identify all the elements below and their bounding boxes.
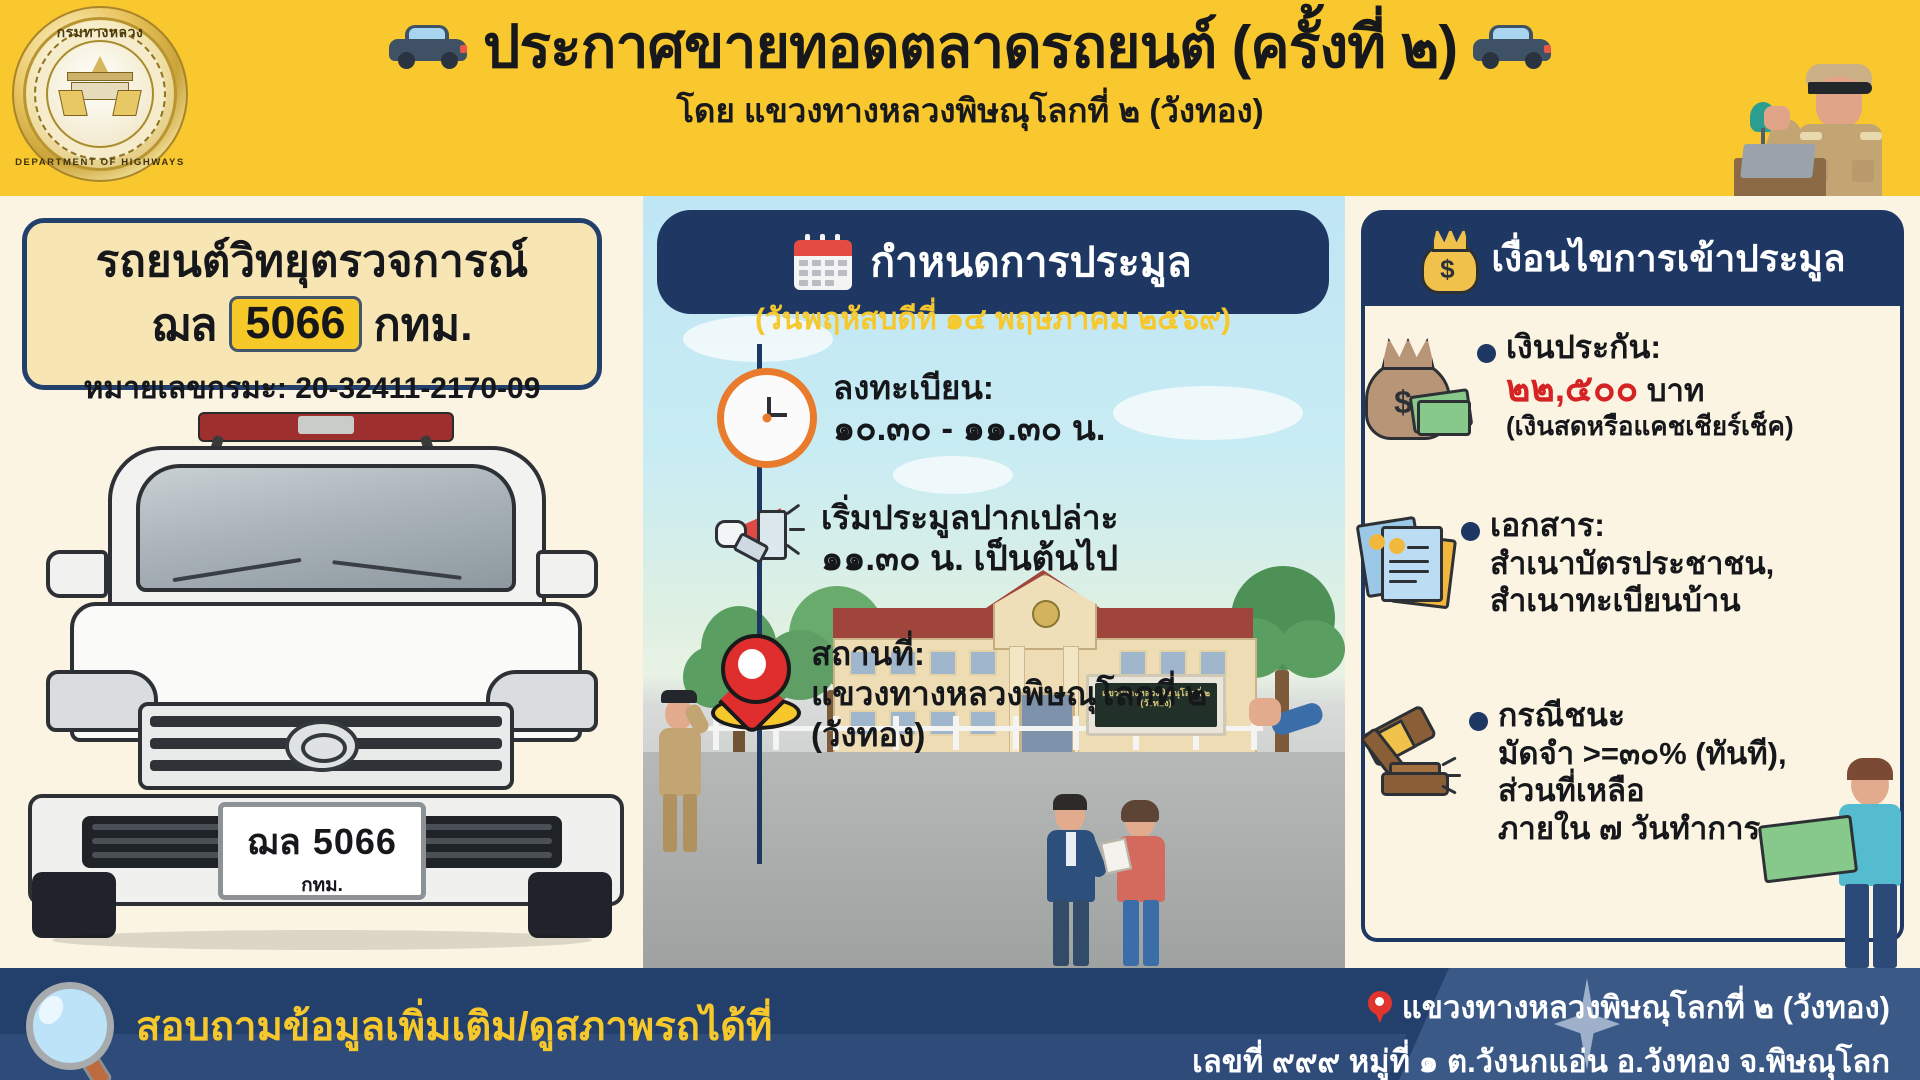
license-plate-number: ฌล 5066 <box>223 813 421 870</box>
winning-line-2: ส่วนที่เหลือ <box>1498 772 1787 810</box>
department-of-highways-seal-icon: กรมทางหลวง DEPARTMENT OF HIGHWAYS <box>12 6 188 182</box>
building-crest-icon <box>1032 600 1060 628</box>
vehicle-info-card: รถยนต์วิทยุตรวจการณ์ ฌล 5066 กทม. หมายเล… <box>22 218 602 390</box>
megaphone-icon <box>713 498 805 568</box>
license-plate-province: กทม. <box>223 870 421 900</box>
bullet-icon-documents <box>1461 522 1480 541</box>
bidder-man-illustration <box>1035 794 1105 966</box>
bidding-start-time: ๑๑.๓๐ น. เป็นต้นไป <box>821 538 1118 581</box>
road-ground <box>643 752 1345 968</box>
condition-deposit: $ เงินประกัน: ๒๒,๕๐๐ บาท (เงินสดหรือแคชเ… <box>1359 328 1794 443</box>
plate-number-highlight: 5066 <box>229 296 361 352</box>
seal-bottom-label: DEPARTMENT OF HIGHWAYS <box>12 157 188 168</box>
money-bag-icon: $ <box>1419 228 1475 288</box>
license-plate: ฌล 5066 กทม. <box>218 802 426 900</box>
money-bag-cash-icon: $ <box>1359 334 1467 438</box>
bidder-woman-illustration <box>1105 800 1175 966</box>
venue-value-2: (วังทอง) <box>811 715 1207 755</box>
car-icon-right <box>1473 25 1551 69</box>
deposit-amount: ๒๒,๕๐๐ <box>1506 368 1638 409</box>
documents-line-2: สำเนาทะเบียนบ้าน <box>1490 582 1774 620</box>
car-icon-left <box>389 25 467 69</box>
schedule-heading: กำหนดการประมูล <box>870 230 1192 295</box>
footer-address-block: แขวงทางหลวงพิษณุโลกที่ ๒ (วังทอง) เลขที่… <box>1192 982 1890 1080</box>
man-holding-money-illustration <box>1815 756 1920 968</box>
winning-line-1: มัดจำ >=๓๐% (ทันที), <box>1498 735 1787 773</box>
condition-documents: เอกสาร: สำเนาบัตรประชาชน, สำเนาทะเบียนบ้… <box>1359 506 1774 620</box>
vehicle-panel: รถยนต์วิทยุตรวจการณ์ ฌล 5066 กทม. หมายเล… <box>0 196 643 968</box>
registration-time: ๑๐.๓๐ - ๑๑.๓๐ น. <box>833 408 1106 451</box>
location-pin-icon <box>1368 991 1392 1023</box>
venue-value: แขวงทางหลวงพิษณุโลกที่ ๒ <box>811 674 1207 714</box>
schedule-panel: แขวงทางหลวงพิษณุโลกที่ ๒ (วังทอง) <box>643 196 1345 968</box>
calendar-icon <box>794 234 852 290</box>
poster-title: ประกาศขายทอดตลาดรถยนต์ (ครั้งที่ ๒) <box>483 14 1457 80</box>
documents-icon <box>1359 512 1451 604</box>
deposit-note: (เงินสดหรือแคชเชียร์เช็ค) <box>1506 411 1794 442</box>
pickup-truck-photo: ฌล 5066 กทม. <box>12 402 632 958</box>
saluting-officer-illustration <box>647 676 711 856</box>
auction-poster: กรมทางหลวง DEPARTMENT OF HIGHWAYS ประกาศ… <box>0 0 1920 1080</box>
auction-date: (วันพฤหัสบดีที่ ๑๔ พฤษภาคม ๒๕๖๙) <box>657 296 1329 343</box>
poster-header: กรมทางหลวง DEPARTMENT OF HIGHWAYS ประกาศ… <box>0 0 1920 196</box>
bullet-icon-deposit <box>1477 344 1496 363</box>
poster-subtitle: โดย แขวงทางหลวงพิษณุโลกที่ ๒ (วังทอง) <box>190 84 1750 137</box>
map-pin-icon <box>709 634 795 726</box>
conditions-panel: $ เงื่อนไขการเข้าประมูล $ เงินประกัน: <box>1345 196 1920 968</box>
schedule-item-registration: ลงทะเบียน: ๑๐.๓๐ - ๑๑.๓๐ น. <box>717 368 1106 468</box>
toyota-emblem-icon <box>285 720 359 772</box>
deposit-unit: บาท <box>1647 373 1705 408</box>
plate-prefix: ฌล <box>151 302 217 347</box>
bullet-icon-winning <box>1469 712 1488 731</box>
seal-top-label: กรมทางหลวง <box>12 22 188 44</box>
documents-line-1: สำเนาบัตรประชาชน, <box>1490 545 1774 583</box>
conditions-header: $ เงื่อนไขการเข้าประมูล <box>1361 210 1904 306</box>
clock-icon <box>717 368 817 468</box>
bidding-start-label: เริ่มประมูลปากเปล่าะ <box>821 498 1118 538</box>
magnifier-icon <box>26 982 122 1074</box>
footer-address: เลขที่ ๙๙๙ หมู่ที่ ๑ ต.วังนกแอ่น อ.วังทอ… <box>1192 1036 1890 1080</box>
poster-body: รถยนต์วิทยุตรวจการณ์ ฌล 5066 กทม. หมายเล… <box>0 196 1920 968</box>
conditions-heading: เงื่อนไขการเข้าประมูล <box>1491 229 1845 288</box>
registration-label: ลงทะเบียน: <box>833 368 1106 408</box>
police-lightbar-icon <box>198 412 454 442</box>
condition-winning: กรณีชนะ มัดจำ >=๓๐% (ทันที), ส่วนที่เหลื… <box>1355 696 1787 847</box>
gavel-icon <box>1355 710 1459 804</box>
winning-line-3: ภายใน ๗ วันทำการ <box>1498 810 1787 848</box>
officer-at-podium-illustration <box>1740 40 1910 196</box>
schedule-item-venue: สถานที่: แขวงทางหลวงพิษณุโลกที่ ๒ (วังทอ… <box>709 634 1207 755</box>
poster-footer: สอบถามข้อมูลเพิ่มเติม/ดูสภาพรถได้ที่ แขว… <box>0 968 1920 1080</box>
plate-province: กทม. <box>374 302 473 347</box>
vehicle-type-label: รถยนต์วิทยุตรวจการณ์ <box>27 240 597 284</box>
footer-contact-prompt: สอบถามข้อมูลเพิ่มเติม/ดูสภาพรถได้ที่ <box>136 994 772 1058</box>
deposit-title: เงินประกัน: <box>1506 328 1794 367</box>
schedule-item-bidding-start: เริ่มประมูลปากเปล่าะ ๑๑.๓๐ น. เป็นต้นไป <box>713 498 1118 581</box>
header-titles: ประกาศขายทอดตลาดรถยนต์ (ครั้งที่ ๒) โดย … <box>190 14 1750 137</box>
venue-label: สถานที่: <box>811 634 1207 674</box>
footer-org-name: แขวงทางหลวงพิษณุโลกที่ ๒ (วังทอง) <box>1402 982 1890 1032</box>
vehicle-plate-row: ฌล 5066 กทม. <box>27 296 597 352</box>
documents-title: เอกสาร: <box>1490 506 1774 545</box>
winning-title: กรณีชนะ <box>1498 696 1787 735</box>
pointing-hand-illustration <box>1243 682 1323 802</box>
